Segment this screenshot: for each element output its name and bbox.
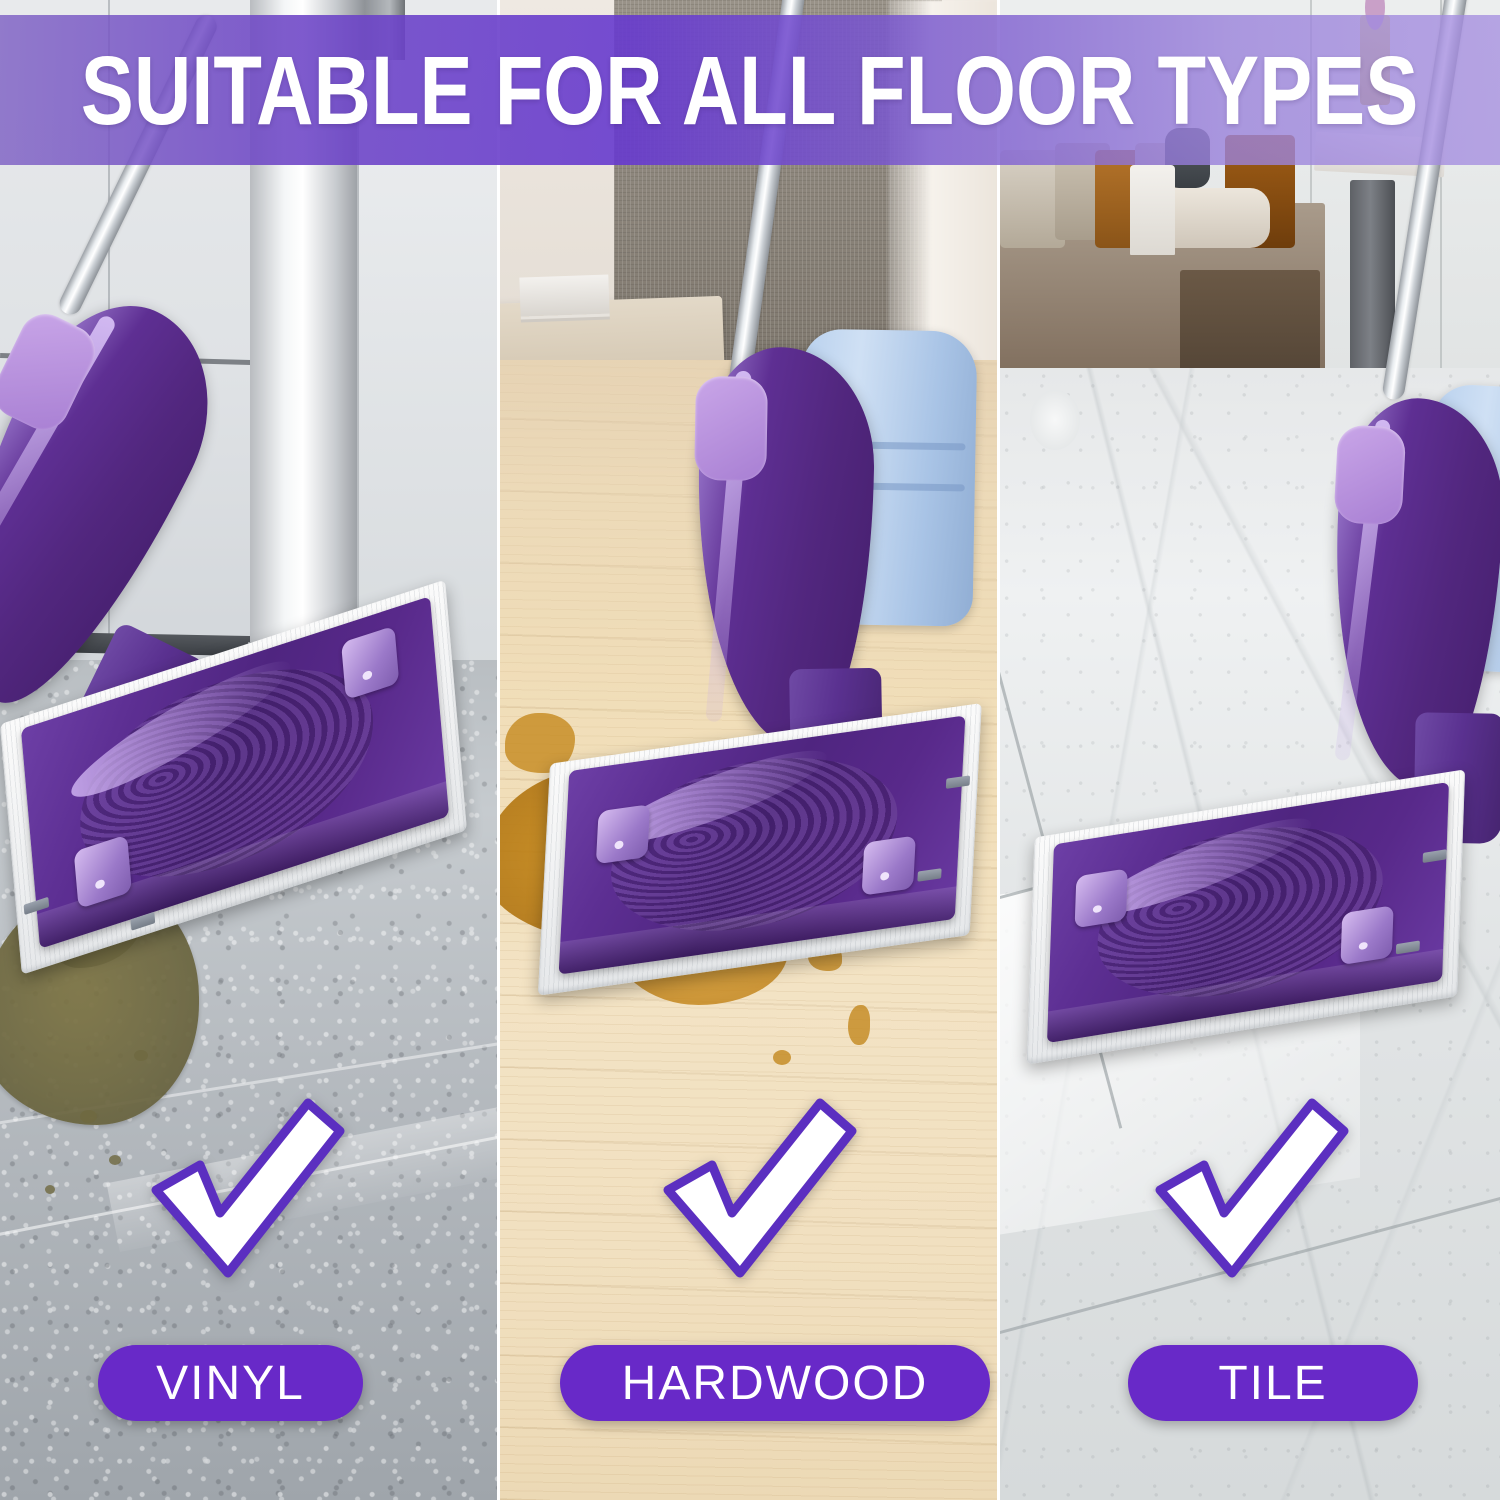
floor-type-label-tile: TILE (1128, 1345, 1418, 1421)
mop-pad-clip[interactable] (862, 835, 916, 895)
floor-type-label-hardwood: HARDWOOD (560, 1345, 990, 1421)
floor-type-panels (0, 0, 1500, 1500)
floor-type-label-text: TILE (1218, 1356, 1327, 1411)
product-feature-image: SUITABLE FOR ALL FLOOR TYPES VINYL HARDW… (0, 0, 1500, 1500)
page-title: SUITABLE FOR ALL FLOOR TYPES (81, 42, 1418, 139)
panel-vinyl (0, 0, 497, 1500)
tile-floor-reflection (1030, 390, 1080, 450)
floor-type-label-text: VINYL (156, 1356, 305, 1411)
mop-pad-clip[interactable] (1340, 905, 1393, 965)
mop-pad-clip[interactable] (1075, 868, 1128, 928)
header-banner: SUITABLE FOR ALL FLOOR TYPES (0, 15, 1500, 165)
checkmark-icon (1152, 1095, 1352, 1280)
mop-trigger-button[interactable] (1333, 424, 1406, 525)
checkmark-icon (660, 1095, 860, 1280)
panel-tile (1000, 0, 1500, 1500)
mop-trigger-button[interactable] (694, 376, 768, 481)
books-stack (519, 274, 610, 316)
table-lamp (1130, 165, 1175, 255)
mop-head (559, 715, 966, 974)
checkmark-icon (148, 1095, 348, 1280)
spray-mop (1317, 155, 1500, 825)
floor-type-label-text: HARDWOOD (622, 1356, 929, 1411)
spill-droplet (45, 1185, 55, 1194)
floor-type-label-vinyl: VINYL (98, 1345, 363, 1421)
spill-droplet (848, 1005, 870, 1045)
mop-pad-clip[interactable] (596, 804, 650, 864)
spill-droplet (80, 1110, 97, 1123)
panel-hardwood (500, 0, 997, 1500)
